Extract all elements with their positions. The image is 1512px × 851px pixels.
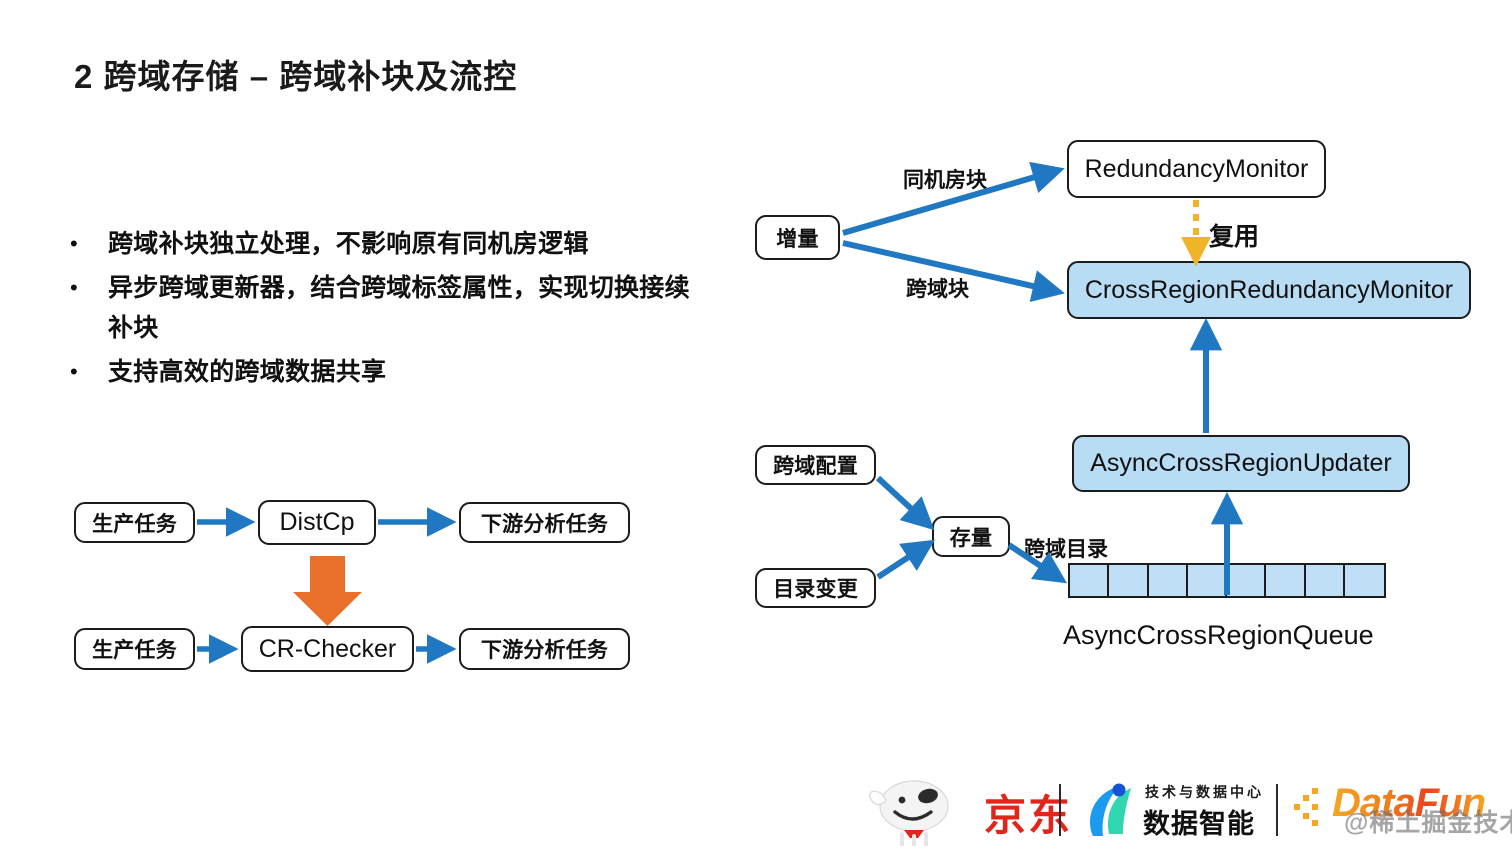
right-node-delta: 增量 (755, 215, 840, 260)
right-node-stock: 存量 (932, 516, 1010, 557)
page-title: 2 跨域存储 – 跨域补块及流控 (74, 50, 517, 98)
queue-cell (1345, 565, 1384, 596)
bullet-text: 跨域补块独立处理，不影响原有同机房逻辑 (108, 224, 589, 264)
slide-root: 2 跨域存储 – 跨域补块及流控 • 跨域补块独立处理，不影响原有同机房逻辑 •… (0, 0, 1512, 851)
list-item: • 跨域补块独立处理，不影响原有同机房逻辑 (62, 224, 702, 264)
bullet-list: • 跨域补块独立处理，不影响原有同机房逻辑 • 异步跨域更新器，结合跨域标签属性… (62, 224, 702, 396)
left-node-downstream-analysis-after: 下游分析任务 (459, 628, 630, 670)
queue-cell (1266, 565, 1305, 596)
edge-label-cross-region-directory: 跨域目录 (1024, 533, 1108, 563)
left-node-distcp: DistCp (258, 500, 376, 545)
datafun-pixels-icon (1294, 788, 1334, 828)
list-item: • 异步跨域更新器，结合跨域标签属性，实现切换接续补块 (62, 268, 702, 348)
left-node-production-task-before: 生产任务 (74, 502, 195, 543)
right-node-cross-region-config: 跨域配置 (755, 445, 876, 485)
queue-cell (1149, 565, 1188, 596)
dept-label-top: 技术与数据中心 (1145, 782, 1264, 802)
right-node-redundancy-monitor: RedundancyMonitor (1067, 140, 1326, 198)
bullet-marker-icon: • (62, 352, 108, 392)
left-node-downstream-analysis-before: 下游分析任务 (459, 502, 630, 543)
edge-label-cross-region-block: 跨域块 (906, 273, 969, 303)
right-node-directory-change: 目录变更 (755, 568, 876, 608)
queue-cell (1188, 565, 1227, 596)
edge-label-same-room-block: 同机房块 (903, 164, 987, 194)
bullet-marker-icon: • (62, 224, 108, 264)
left-node-production-task-after: 生产任务 (74, 628, 195, 670)
queue-caption: AsyncCrossRegionQueue (1063, 620, 1374, 651)
queue-cell (1227, 565, 1266, 596)
queue-cell (1109, 565, 1148, 596)
async-cross-region-queue (1068, 563, 1386, 598)
watermark-text: @稀土掘金技术社区 (1344, 803, 1512, 839)
right-node-async-cross-region-updater: AsyncCrossRegionUpdater (1072, 435, 1410, 492)
bullet-text: 支持高效的跨域数据共享 (108, 352, 386, 392)
edge-label-reuse: 复用 (1209, 217, 1259, 253)
list-item: • 支持高效的跨域数据共享 (62, 352, 702, 392)
transition-down-arrow-icon (293, 556, 362, 626)
right-node-cross-region-redundancy-monitor: CrossRegionRedundancyMonitor (1067, 261, 1471, 319)
queue-cell (1070, 565, 1109, 596)
dept-label-bottom: 数据智能 (1143, 802, 1255, 841)
bullet-text: 异步跨域更新器，结合跨域标签属性，实现切换接续补块 (108, 268, 702, 348)
data-intelligence-logo-icon (1079, 778, 1137, 842)
jd-dog-logo-icon (862, 776, 974, 846)
diagram-arrows (0, 0, 1512, 851)
footer: 京东 技术与数据中心 数据智能 DataFun @稀土掘金技术社区 (862, 770, 1512, 851)
left-node-cr-checker: CR-Checker (241, 626, 414, 672)
bullet-marker-icon: • (62, 268, 108, 308)
queue-cell (1306, 565, 1345, 596)
